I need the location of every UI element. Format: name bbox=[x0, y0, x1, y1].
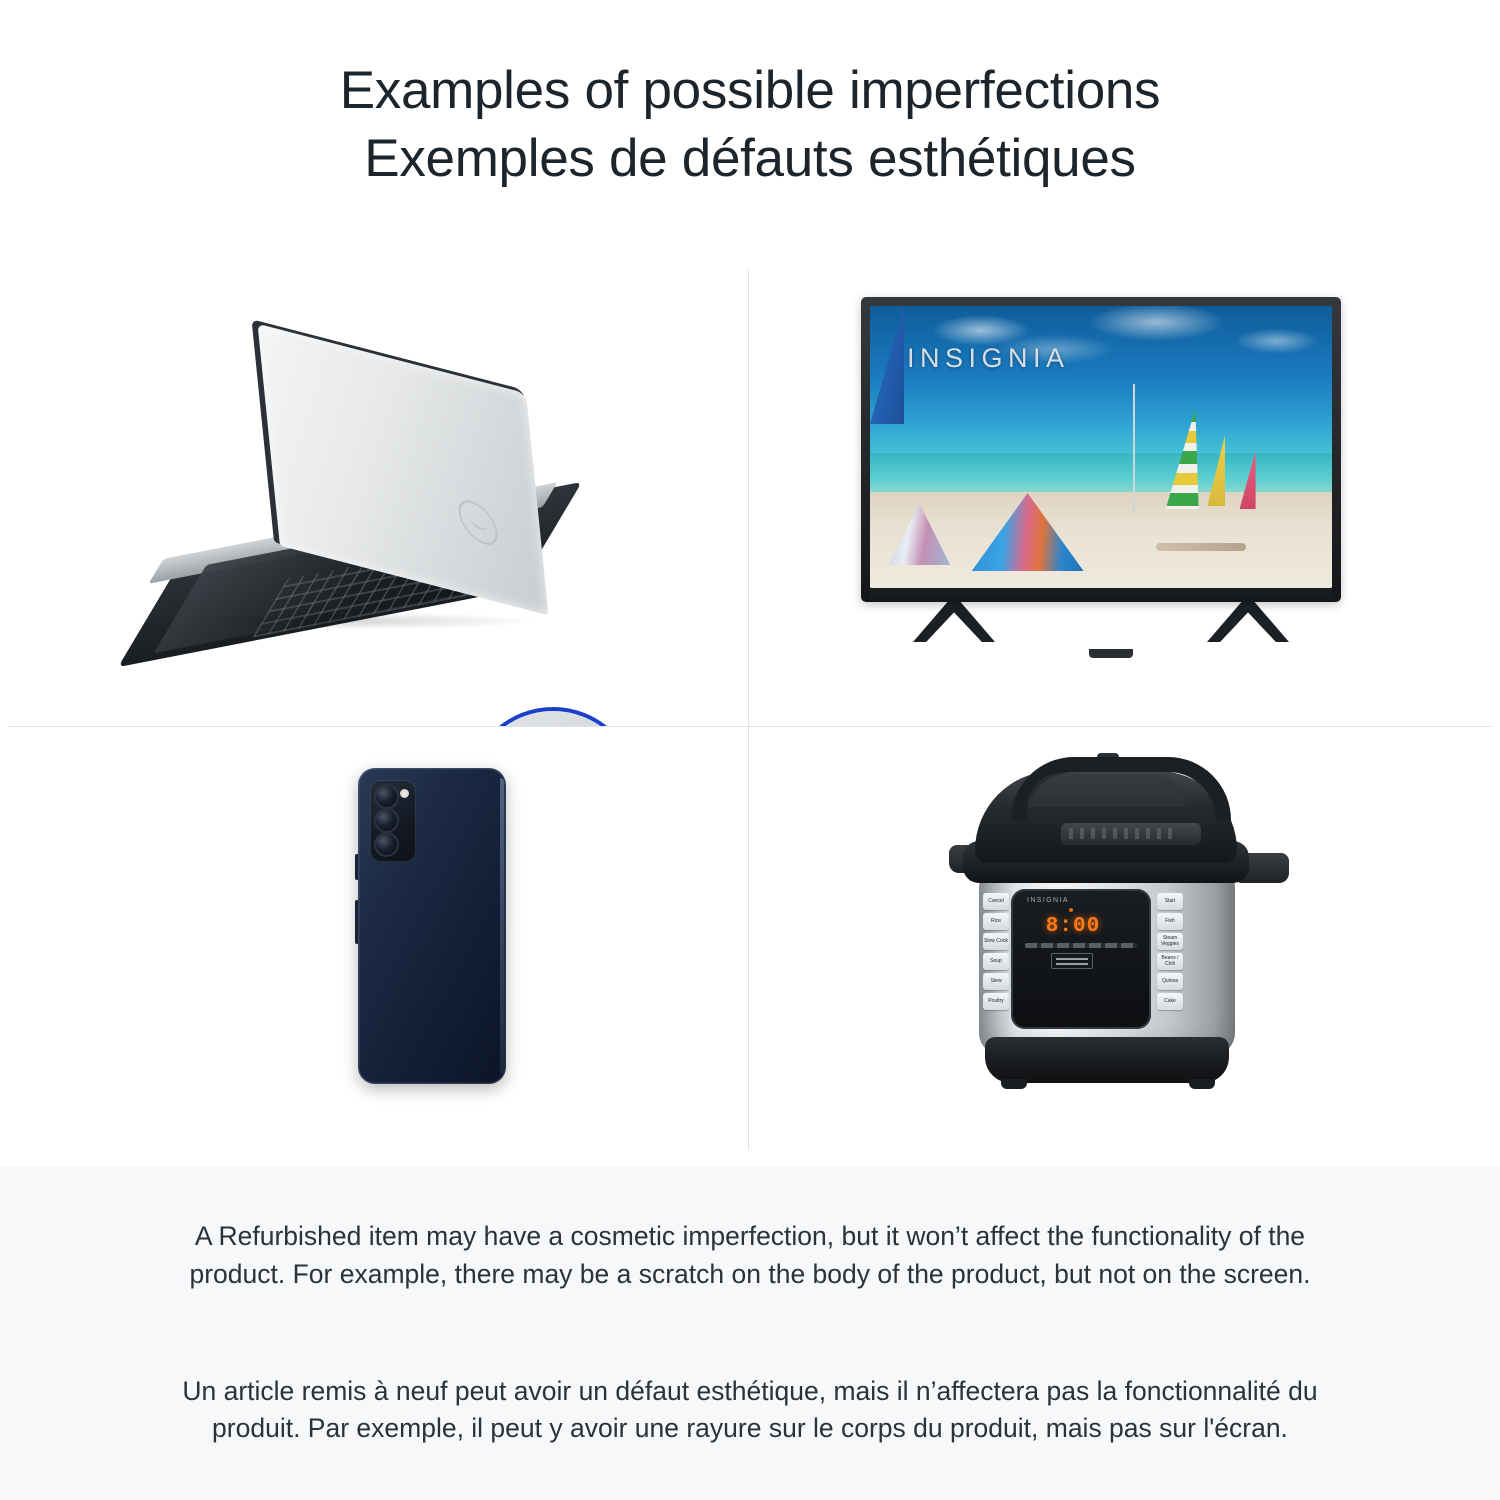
cooker-button[interactable]: Fish bbox=[1157, 913, 1183, 930]
smartphone-illustration bbox=[330, 768, 570, 1128]
tv-scene-sand bbox=[870, 492, 1332, 588]
camera-lens-icon bbox=[376, 834, 397, 855]
cooker-button[interactable]: Poultry bbox=[983, 993, 1009, 1010]
cooker-button[interactable]: Rice bbox=[983, 913, 1009, 930]
tv-screen: INSIGNIA bbox=[870, 306, 1332, 588]
tv-frame: INSIGNIA bbox=[861, 297, 1341, 602]
magnifier-content-laptop bbox=[471, 711, 635, 726]
quadrant-smartphone bbox=[0, 728, 748, 1165]
laptop-shadow bbox=[170, 612, 540, 630]
phone-camera-module bbox=[370, 780, 416, 862]
camera-lens-icon bbox=[376, 810, 397, 831]
laptop-logo-icon bbox=[457, 492, 500, 552]
cooker-button[interactable]: Cake bbox=[1157, 993, 1183, 1010]
footer-paragraph-french: Un article remis à neuf peut avoir un dé… bbox=[180, 1373, 1320, 1448]
cooker-button[interactable]: Start bbox=[1157, 893, 1183, 910]
cooker-button-column-left[interactable]: Cancel Rice Slow Cook Soup Stew Poultry bbox=[983, 893, 1009, 1010]
tv-brand-logo: INSIGNIA bbox=[907, 343, 1070, 374]
cooker-brand-logo: INSIGNIA bbox=[1027, 897, 1069, 904]
tv-scene-mast bbox=[1133, 384, 1135, 512]
tv-leg-right bbox=[1207, 602, 1289, 642]
quadrant-television: INSIGNIA bbox=[749, 252, 1500, 726]
laptop-illustration bbox=[150, 362, 580, 652]
cooker-foot-right bbox=[1189, 1079, 1215, 1089]
phone-edge-highlight bbox=[500, 778, 504, 1074]
cooker-button[interactable]: Soup bbox=[983, 953, 1009, 970]
cooker-button-column-right[interactable]: Start Fish Steam Veggies Beans / Chili Q… bbox=[1157, 893, 1183, 1010]
product-example-grid: INSIGNIA bbox=[0, 252, 1500, 1165]
circle-magnifier-laptop bbox=[467, 707, 639, 726]
camera-lens-icon bbox=[376, 786, 397, 807]
camera-flash-icon bbox=[400, 789, 409, 798]
cooker-button[interactable]: Quinoa bbox=[1157, 973, 1183, 990]
grid-divider-horizontal bbox=[8, 726, 1492, 727]
cooker-button[interactable]: Steam Veggies bbox=[1157, 933, 1183, 950]
cooker-base bbox=[985, 1037, 1229, 1083]
phone-back-panel bbox=[358, 768, 506, 1084]
cooker-button[interactable]: Cancel bbox=[983, 893, 1009, 910]
cooker-button[interactable]: Beans / Chili bbox=[1157, 953, 1183, 970]
cooker-mode-display bbox=[1051, 953, 1093, 969]
page-footer: A Refurbished item may have a cosmetic i… bbox=[0, 1166, 1500, 1500]
page-title-french: Exemples de défauts esthétiques bbox=[364, 125, 1135, 193]
quadrant-laptop bbox=[0, 252, 748, 726]
tv-scene-sky bbox=[870, 306, 1332, 441]
television-illustration: INSIGNIA bbox=[861, 297, 1361, 657]
cooker-led-display: 8:00 bbox=[1037, 915, 1109, 937]
cooker-status-indicator bbox=[1069, 908, 1073, 912]
page-header: Examples of possible imperfections Exemp… bbox=[0, 0, 1500, 250]
cooker-button[interactable]: Stew bbox=[983, 973, 1009, 990]
infographic-page: Examples of possible imperfections Exemp… bbox=[0, 0, 1500, 1500]
tv-scene-beached-boat bbox=[1156, 543, 1246, 551]
cooker-lid-handle-inner bbox=[1027, 773, 1185, 807]
footer-paragraph-english: A Refurbished item may have a cosmetic i… bbox=[180, 1218, 1320, 1293]
cooker-button[interactable]: Slow Cook bbox=[983, 933, 1009, 950]
tv-ir-sensor-icon bbox=[1089, 649, 1133, 658]
tv-bottom-bezel bbox=[870, 588, 1332, 599]
cooker-lid-vent bbox=[1061, 823, 1201, 845]
quadrant-pressure-cooker: Cancel Rice Slow Cook Soup Stew Poultry … bbox=[749, 728, 1500, 1165]
cooker-progress-bar bbox=[1025, 943, 1137, 948]
pressure-cooker-illustration: Cancel Rice Slow Cook Soup Stew Poultry … bbox=[949, 753, 1289, 1123]
cooker-foot-left bbox=[1001, 1079, 1027, 1089]
tv-leg-left bbox=[913, 602, 995, 642]
cooker-control-panel[interactable]: INSIGNIA 8:00 bbox=[1011, 889, 1151, 1029]
tv-scene-sea bbox=[870, 453, 1332, 498]
page-title-english: Examples of possible imperfections bbox=[340, 57, 1161, 125]
